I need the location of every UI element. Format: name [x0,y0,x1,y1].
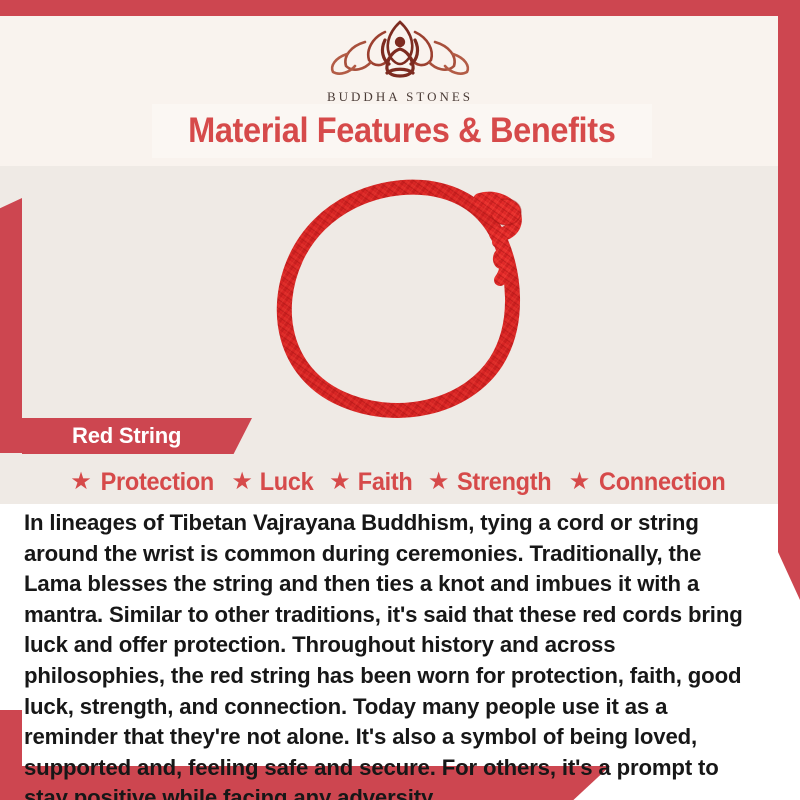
description-paragraph: In lineages of Tibetan Vajrayana Buddhis… [24,508,761,800]
title-banner: Material Features & Benefits [152,104,652,158]
benefits-row: ★ Protection ★ Luck ★ Faith ★ Strength ★… [0,462,800,502]
benefit-label: Strength [457,468,551,497]
benefit-connection: ★ Connection [569,468,730,497]
brand-wordmark: BUDDHA STONES [327,89,473,105]
brand-logo-block: BUDDHA STONES [0,16,800,102]
benefit-protection: ★ Protection [70,468,217,497]
benefit-label: Connection [599,468,725,497]
material-label-banner: Red String [22,418,252,454]
red-braided-string-bracelet [228,166,578,433]
star-icon: ★ [231,470,253,494]
benefit-label: Luck [260,468,314,497]
lotus-meditation-icon [325,16,475,87]
page-title: Material Features & Benefits [188,111,615,151]
infographic-root: BUDDHA STONES Material Features & Benefi… [0,0,800,800]
benefit-faith: ★ Faith [329,468,414,497]
material-label-text: Red String [72,423,181,449]
star-icon: ★ [70,470,92,494]
star-icon: ★ [428,470,450,494]
product-image-area [0,166,800,428]
decorative-rail-top [0,0,800,16]
benefit-strength: ★ Strength [428,468,555,497]
star-icon: ★ [569,470,591,494]
benefit-luck: ★ Luck [231,468,315,497]
benefit-label: Faith [357,468,412,497]
benefit-label: Protection [100,468,213,497]
star-icon: ★ [329,470,351,494]
